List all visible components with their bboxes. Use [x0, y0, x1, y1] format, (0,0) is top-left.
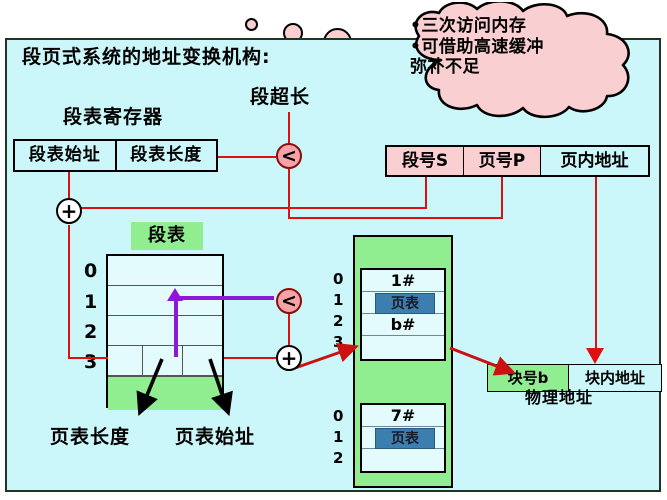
logical-address-bar[interactable]: 段号S 页号P 页内地址 — [385, 145, 650, 177]
connector-segnum-down — [425, 177, 427, 208]
page-table-inner-label: 页表 — [375, 428, 435, 449]
connector-compare-down — [288, 169, 290, 219]
thought-bubble-small — [245, 18, 258, 31]
segment-table-index-1: 1 — [84, 293, 97, 312]
cloud-text: •三次访问内存 •可借助高速缓冲 弥补不足 — [410, 16, 640, 78]
segment-register-length-cell: 段表长度 — [117, 141, 217, 170]
segment-table-row[interactable] — [108, 286, 222, 316]
connector-midcompare-to-midadder — [288, 313, 290, 347]
connector-seglen-to-compare — [218, 156, 276, 158]
connector-pagenum-down — [501, 177, 503, 218]
connector-segtable-to-midadder — [224, 357, 276, 359]
comparator-top-glyph: < — [281, 145, 297, 167]
page-table-row[interactable] — [362, 449, 444, 471]
segment-table-index-0: 0 — [84, 262, 97, 281]
adder-mid[interactable]: + — [276, 345, 302, 371]
adder-top[interactable]: + — [56, 198, 82, 224]
page-table-header: 1# — [362, 270, 444, 292]
logical-address-segment-number: 段号S — [387, 147, 464, 175]
page-table-entry-b: b# — [362, 314, 444, 336]
connector-segbase-to-adder — [68, 172, 70, 199]
page-table-block-7[interactable]: 7# 页表 — [360, 403, 446, 473]
connector-adder-down — [68, 225, 70, 358]
page-table-row[interactable]: 页表 — [362, 427, 444, 449]
comparator-mid-glyph: < — [281, 290, 297, 312]
purple-connector-horizontal — [174, 296, 274, 300]
connector-adder-to-segtable — [68, 357, 108, 359]
segment-table-annotation-arrows — [100, 340, 260, 430]
logical-address-page-number: 页号P — [464, 147, 541, 175]
connector-pagetable-to-blocknum — [450, 348, 560, 388]
adder-mid-glyph: + — [281, 346, 298, 370]
connector-offset-to-physical — [595, 177, 597, 354]
cloud-line-1: •三次访问内存 — [410, 16, 640, 37]
connector-compare-to-overflow — [288, 112, 290, 144]
purple-connector-vertical — [174, 297, 178, 357]
page-table-inner-label: 页表 — [375, 293, 435, 314]
page-table-7-index-2: 2 — [333, 451, 343, 466]
comparator-top[interactable]: < — [276, 143, 302, 169]
page-table-7-index-1: 1 — [333, 430, 343, 445]
connector-segnum-left — [80, 207, 427, 209]
logical-address-offset: 页内地址 — [541, 147, 648, 175]
diagram-canvas: 段页式系统的地址变换机构: 段表寄存器 段表始址 段表长度 段超长 段号S 页号… — [0, 0, 667, 500]
segment-table-row[interactable] — [108, 256, 222, 286]
page-table-length-label: 页表长度 — [50, 428, 130, 447]
connector-midadder-to-pagetable — [295, 335, 375, 375]
page-table-7-index-0: 0 — [333, 409, 343, 424]
page-table-base-label: 页表始址 — [175, 428, 255, 447]
cloud-line-3: 弥补不足 — [410, 57, 640, 78]
page-title: 段页式系统的地址变换机构: — [22, 48, 271, 67]
comparator-mid[interactable]: < — [276, 288, 302, 314]
adder-top-glyph: + — [61, 199, 78, 223]
page-table-row[interactable]: 页表 — [362, 292, 444, 314]
page-table-1-index-1: 1 — [333, 293, 343, 308]
segment-table-index-3: 3 — [84, 353, 97, 372]
connector-pagenum-left — [288, 217, 503, 219]
segment-register-title: 段表寄存器 — [63, 108, 163, 127]
segment-table-register[interactable]: 段表始址 段表长度 — [13, 139, 218, 172]
segment-table-index-2: 2 — [84, 323, 97, 342]
page-table-header: 7# — [362, 405, 444, 427]
connector-offset-arrowhead — [586, 348, 606, 366]
segment-register-base-cell: 段表始址 — [15, 141, 117, 170]
physical-address-caption: 物理地址 — [525, 390, 593, 406]
segment-table-caption: 段表 — [131, 222, 203, 250]
segment-overflow-label: 段超长 — [250, 88, 310, 107]
page-table-1-index-0: 0 — [333, 272, 343, 287]
cloud-line-2: •可借助高速缓冲 — [410, 37, 640, 58]
page-table-1-index-2: 2 — [333, 314, 343, 329]
